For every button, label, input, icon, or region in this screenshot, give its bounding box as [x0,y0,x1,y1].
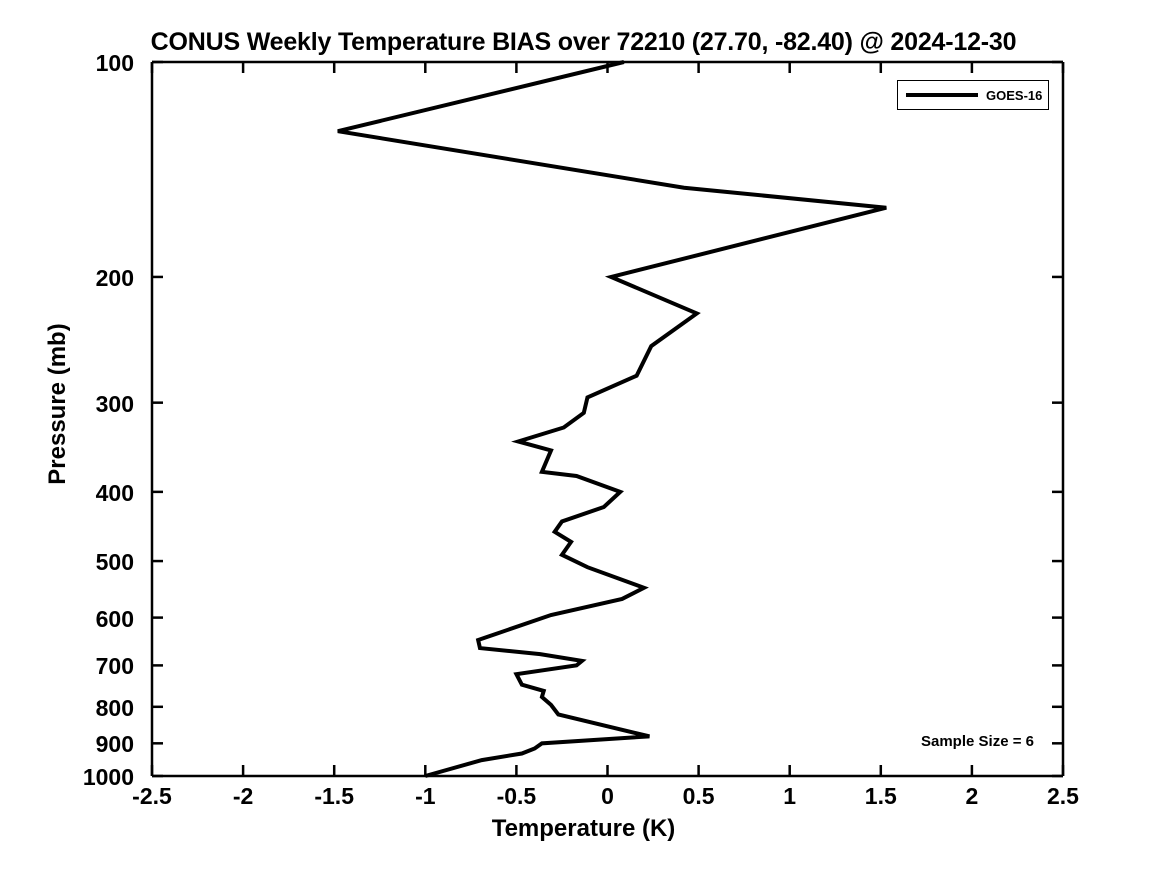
x-axis-label: Temperature (K) [0,815,1167,843]
y-tick-label: 700 [0,653,142,680]
y-tick-label: 1000 [0,764,142,791]
y-tick-label: 200 [0,265,142,292]
y-tick-label: 900 [0,731,142,758]
chart-figure: CONUS Weekly Temperature BIAS over 72210… [0,0,1167,875]
y-tick-label: 500 [0,549,142,576]
y-tick-label: 600 [0,606,142,633]
chart-legend[interactable]: GOES-16 [897,80,1049,110]
chart-title: CONUS Weekly Temperature BIAS over 72210… [0,28,1167,57]
y-tick-label: 800 [0,695,142,722]
plot-area [152,62,1063,776]
x-tick-label: 2.5 [1013,783,1113,810]
y-tick-label: 300 [0,391,142,418]
data-series-line-goes-16 [338,62,886,776]
x-tick-label: -0.5 [466,783,566,810]
x-axis-ticks [152,62,1063,776]
x-tick-label: 0.5 [649,783,749,810]
y-tick-label: 100 [0,50,142,77]
axis-frame [152,62,1063,776]
x-tick-label: 0 [558,783,658,810]
x-tick-label: -2 [193,783,293,810]
data-series-group [338,62,886,776]
x-tick-label: -1 [375,783,475,810]
y-axis-ticks [152,62,1063,776]
y-tick-label: 400 [0,480,142,507]
x-tick-label: -1.5 [284,783,384,810]
x-tick-label: 2 [922,783,1022,810]
x-tick-label: 1.5 [831,783,931,810]
sample-size-annotation: Sample Size = 6 [921,733,1034,750]
plot-svg [152,62,1063,776]
legend-label-goes16: GOES-16 [986,88,1042,103]
x-tick-label: 1 [740,783,840,810]
legend-line-swatch [906,93,978,97]
